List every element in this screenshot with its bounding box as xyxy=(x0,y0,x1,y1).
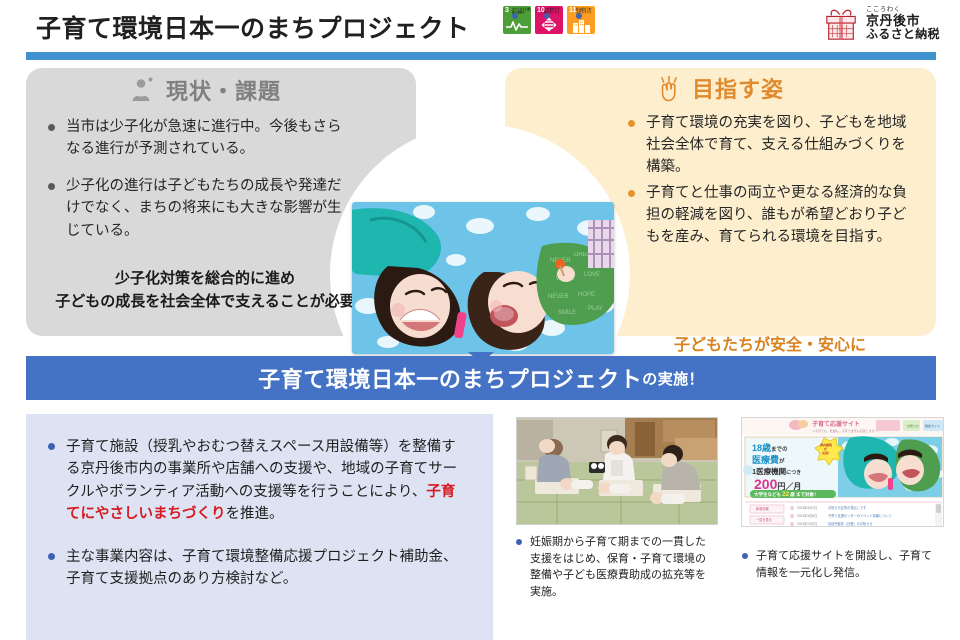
slide-root: 子育て環境日本一のまちプロジェクト 3 すべての人に健康と福祉を 10 人や国の… xyxy=(0,0,960,640)
sdg-10-caption: 人や国の不平等をなくそう xyxy=(544,8,562,14)
svg-text:SMILE: SMILE xyxy=(558,310,576,316)
initiative-1-text-b: を推進。 xyxy=(226,506,284,522)
caption-room-text: 妊娠期から子育て期までの一貫した支援をはじめ、保育・子育て環境の整備や子ども医療… xyxy=(516,534,706,600)
header: 子育て環境日本一のまちプロジェクト 3 すべての人に健康と福祉を 10 人や国の… xyxy=(0,0,960,52)
site-screenshot-graphic: 子育て応援サイト 〜子育ても、妊娠も、子育て世代も応援します〜 お知らせ 相談ガ… xyxy=(742,418,944,527)
svg-text:大学生なども 22 歳 まで対象！: 大学生なども 22 歳 まで対象！ xyxy=(754,491,818,498)
svg-text:子育て支援センターのイベント情報について: 子育て支援センターのイベント情報について xyxy=(828,513,892,518)
svg-text:NEVER: NEVER xyxy=(548,294,569,300)
current-issues-heading-text: 現状・課題 xyxy=(166,74,281,106)
top-section: 現状・課題 当市は少子化が急速に進行中。今後もさらなる進行が予測されている。 少… xyxy=(0,62,960,342)
vision-heading: 目指す姿 xyxy=(658,72,784,104)
vision-heading-text: 目指す姿 xyxy=(692,72,784,104)
city-buildings-glyph xyxy=(567,18,595,33)
brand-text: こころわく 京丹後市 ふるさと納税 xyxy=(866,6,940,41)
brand-city: 京丹後市 xyxy=(866,14,940,29)
kyotango-furusato-brand: こころわく 京丹後市 ふるさと納税 xyxy=(822,6,940,42)
svg-text:お知らせ記事の見出しです: お知らせ記事の見出しです xyxy=(828,505,866,510)
svg-text:〜子育ても、妊娠も、子育て世代も応援します〜: 〜子育ても、妊娠も、子育て世代も応援します〜 xyxy=(812,428,878,433)
svg-text:PLAY: PLAY xyxy=(588,306,603,312)
list-item: 子育てと仕事の両立や更なる経済的な負担の軽減を図り、誰もが希望どおり子どもを産み… xyxy=(624,182,914,248)
header-divider xyxy=(26,52,936,60)
svg-text:充実！: 充実！ xyxy=(822,450,831,455)
sdg-3-number: 3 xyxy=(505,7,509,14)
photo-tatami-room-graphic xyxy=(517,418,718,525)
caption-site-text: 子育て応援サイトを開設し、子育て情報を一元化し発信。 xyxy=(742,548,942,581)
current-issues-footer-line1: 少子化対策を総合的に進め xyxy=(20,268,390,291)
svg-text:お知らせ: お知らせ xyxy=(907,423,919,428)
initiatives-bullet-list: 子育て施設（授乳やおむつ替えスペース用設備等）を整備する京丹後市内の事業所や店舗… xyxy=(44,436,469,591)
person-thinking-icon xyxy=(130,77,156,103)
sdg-11-caption: 住み続けられるまちづくりを xyxy=(576,8,594,18)
current-issues-footer-line2: 子どもの成長を社会全体で支えることが必要 xyxy=(20,291,390,314)
site-screenshot: 子育て応援サイト 〜子育ても、妊娠も、子育て世代も応援します〜 お知らせ 相談ガ… xyxy=(741,417,944,527)
vision-body: 子育て環境の充実を図り、子どもを地域社会全体で育て、支える仕組みづくりを構築。 … xyxy=(624,112,914,252)
current-issues-body: 当市は少子化が急速に進行中。今後もさらなる進行が予測されている。 少子化の進行は… xyxy=(44,116,344,256)
initiatives-body: 子育て施設（授乳やおむつ替えスペース用設備等）を整備する京丹後市内の事業所や店舗… xyxy=(44,436,469,611)
photo-tatami-room xyxy=(516,417,718,525)
banner-suffix-text: の実施！ xyxy=(642,368,704,389)
svg-text:子育て応援サイト: 子育て応援サイト xyxy=(812,420,860,428)
current-issues-heading: 現状・課題 xyxy=(130,74,281,106)
vision-bullet-list: 子育て環境の充実を図り、子どもを地域社会全体で育て、支える仕組みづくりを構築。 … xyxy=(624,112,914,248)
sdg-3-good-health-icon: 3 すべての人に健康と福祉を xyxy=(503,6,531,34)
project-banner-wrapper: 子育て環境日本一のまちプロジェクト の実施！ xyxy=(0,352,960,400)
caption-site: 子育て応援サイトを開設し、子育て情報を一元化し発信。 xyxy=(742,548,942,581)
svg-text:LOVE: LOVE xyxy=(584,272,600,278)
svg-text:新着情報: 新着情報 xyxy=(756,506,770,511)
svg-text:2024年2月5日: 2024年2月5日 xyxy=(797,521,817,526)
sdg-3-caption: すべての人に健康と福祉を xyxy=(512,8,530,14)
equality-arrows-glyph xyxy=(535,17,563,32)
current-issues-footer: 少子化対策を総合的に進め 子どもの成長を社会全体で支えることが必要 xyxy=(20,268,390,313)
list-item: 子育て環境の充実を図り、子どもを地域社会全体で育て、支える仕組みづくりを構築。 xyxy=(624,112,914,178)
svg-text:一覧を見る: 一覧を見る xyxy=(756,517,772,522)
sdg-icon-row: 3 すべての人に健康と福祉を 10 人や国の不平等をなくそう 11 住み続けら xyxy=(503,6,595,34)
list-item: 当市は少子化が急速に進行中。今後もさらなる進行が予測されている。 xyxy=(44,116,344,161)
sdg-10-reduced-inequalities-icon: 10 人や国の不平等をなくそう xyxy=(535,6,563,34)
svg-text:HOPE: HOPE xyxy=(578,292,595,298)
svg-text:乳幼児健診（日程）のお知らせ: 乳幼児健診（日程）のお知らせ xyxy=(828,521,873,526)
heartbeat-glyph xyxy=(503,18,531,32)
current-issues-bullet-list: 当市は少子化が急速に進行中。今後もさらなる進行が予測されている。 少子化の進行は… xyxy=(44,116,344,242)
gift-box-icon xyxy=(822,6,860,42)
sdg-11-sustainable-cities-icon: 11 住み続けられるまちづくりを xyxy=(567,6,595,34)
svg-text:相談ガイド: 相談ガイド xyxy=(925,423,940,428)
hand-pointing-icon xyxy=(658,75,682,102)
list-item: 少子化の進行は子どもたちの成長や発達だけでなく、まちの将来にも大きな影響が生じて… xyxy=(44,175,344,242)
project-banner: 子育て環境日本一のまちプロジェクト の実施！ xyxy=(26,356,936,400)
initiative-1-text-a: 子育て施設（授乳やおむつ替えスペース用設備等）を整備する京丹後市内の事業所や店舗… xyxy=(66,439,457,500)
bottom-section: 子育て施設（授乳やおむつ替えスペース用設備等）を整備する京丹後市内の事業所や店舗… xyxy=(0,406,960,640)
caption-room: 妊娠期から子育て期までの一貫した支援をはじめ、保育・子育て環境の整備や子ども医療… xyxy=(516,534,706,600)
brand-subtitle: ふるさと納税 xyxy=(866,28,940,41)
svg-text:2024年3月8日: 2024年3月8日 xyxy=(797,513,817,518)
banner-main-text: 子育て環境日本一のまちプロジェクト xyxy=(258,362,642,394)
photo-two-children-graphic: NEVERDREAM WORKLOVE NEVERHOPE SMILEPLAY xyxy=(352,202,614,354)
list-item: 子育て施設（授乳やおむつ替えスペース用設備等）を整備する京丹後市内の事業所や店舗… xyxy=(44,436,469,526)
svg-text:2024年4月1日: 2024年4月1日 xyxy=(797,505,817,510)
photo-two-children: NEVERDREAM WORKLOVE NEVERHOPE SMILEPLAY xyxy=(352,202,614,354)
page-title: 子育て環境日本一のまちプロジェクト xyxy=(36,9,470,45)
list-item: 主な事業内容は、子育て環境整備応援プロジェクト補助金、子育て支援拠点のあり方検討… xyxy=(44,546,469,591)
